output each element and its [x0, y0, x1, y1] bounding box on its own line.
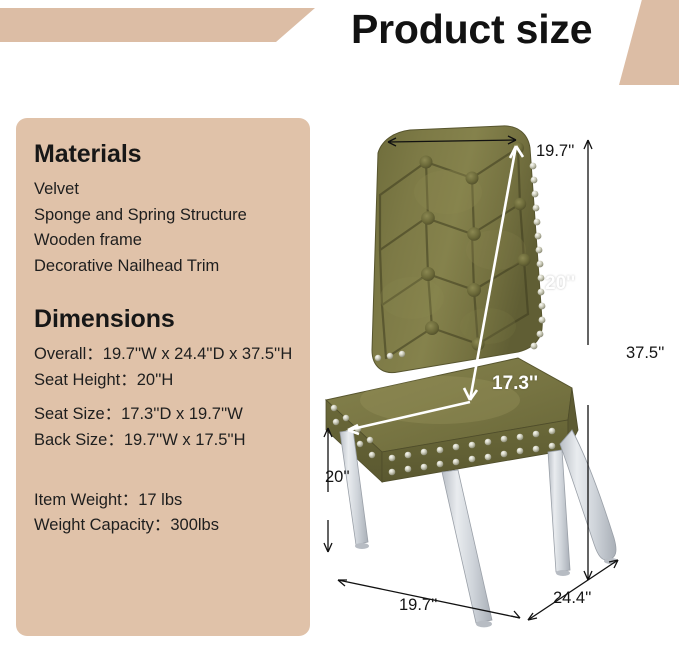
info-panel: Materials Velvet Sponge and Spring Struc…: [16, 118, 310, 636]
spacer: [34, 393, 292, 402]
header-accent-bar-left: [0, 8, 315, 42]
chair-back: [372, 126, 545, 373]
callout-base-width: 19.7'': [399, 596, 437, 615]
materials-heading: Materials: [34, 140, 292, 169]
callout-seat-depth: 17.3'': [492, 373, 538, 395]
materials-block: Materials Velvet Sponge and Spring Struc…: [34, 140, 292, 279]
dimensions-item-back-size: Back Size：19.7''W x 17.5''H: [34, 428, 292, 454]
page-title: Product size: [351, 6, 592, 53]
dimensions-item-seat-height: Seat Height：20''H: [34, 368, 292, 394]
callout-seat-height: 20'': [325, 468, 350, 487]
dimensions-block: Dimensions Overall：19.7''W x 24.4''D x 3…: [34, 305, 292, 453]
leg-front-right: [548, 450, 570, 572]
item-weight: Item Weight：17 lbs: [34, 488, 292, 514]
callout-base-depth: 24.4'': [553, 589, 591, 608]
callout-back-height: 20'': [545, 273, 575, 295]
callout-overall-height: 37.5'': [626, 344, 664, 363]
product-size-infographic: Product size Materials Velvet Sponge and…: [0, 0, 679, 645]
dimensions-item-seat-size: Seat Size：17.3''D x 19.7''W: [34, 402, 292, 428]
callout-back-top-width: 19.7'': [536, 142, 574, 161]
materials-item: Velvet: [34, 177, 292, 203]
weights-block: Item Weight：17 lbs Weight Capacity：300lb…: [34, 488, 292, 539]
materials-item: Decorative Nailhead Trim: [34, 254, 292, 280]
header-accent-shape-right: [619, 0, 679, 85]
leg-front-left: [442, 470, 492, 623]
weight-capacity: Weight Capacity：300lbs: [34, 513, 292, 539]
materials-item: Wooden frame: [34, 228, 292, 254]
materials-item: Sponge and Spring Structure: [34, 203, 292, 229]
dimensions-item-overall: Overall：19.7''W x 24.4''D x 37.5''H: [34, 342, 292, 368]
dimensions-heading: Dimensions: [34, 305, 292, 334]
chair-seat: [326, 358, 578, 482]
